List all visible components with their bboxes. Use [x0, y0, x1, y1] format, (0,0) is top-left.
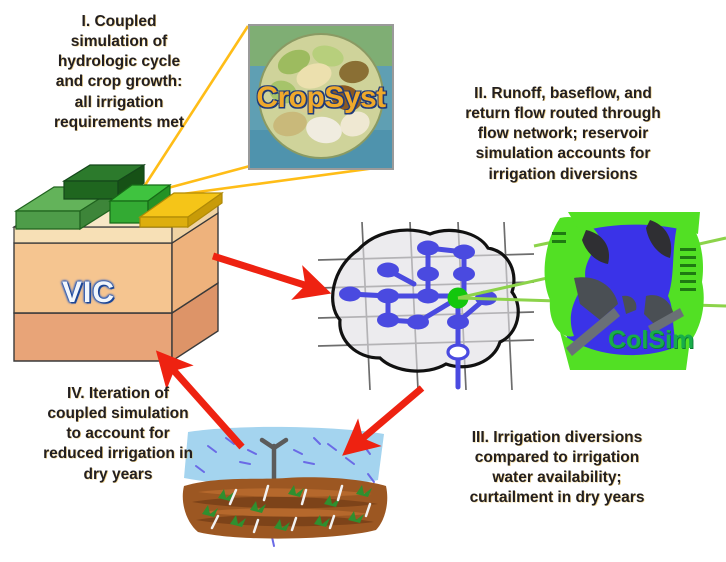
- caption-step-4: IV. Iteration of coupled simulation to a…: [6, 384, 230, 485]
- flow-network-graphic: [318, 222, 534, 390]
- vic-soil-column-graphic: [14, 165, 264, 365]
- caption-step-3: III. Irrigation diversions compared to i…: [392, 428, 722, 509]
- caption-step-1: I. Coupled simulation of hydrologic cycl…: [8, 12, 230, 133]
- colsim-reservoir-graphic: [530, 212, 710, 372]
- diagram-canvas: VIC CropSyst: [0, 0, 726, 562]
- caption-step-2: II. Runoff, baseflow, and return flow ro…: [404, 84, 722, 185]
- cropsyst-logo-image: CropSyst: [248, 24, 394, 170]
